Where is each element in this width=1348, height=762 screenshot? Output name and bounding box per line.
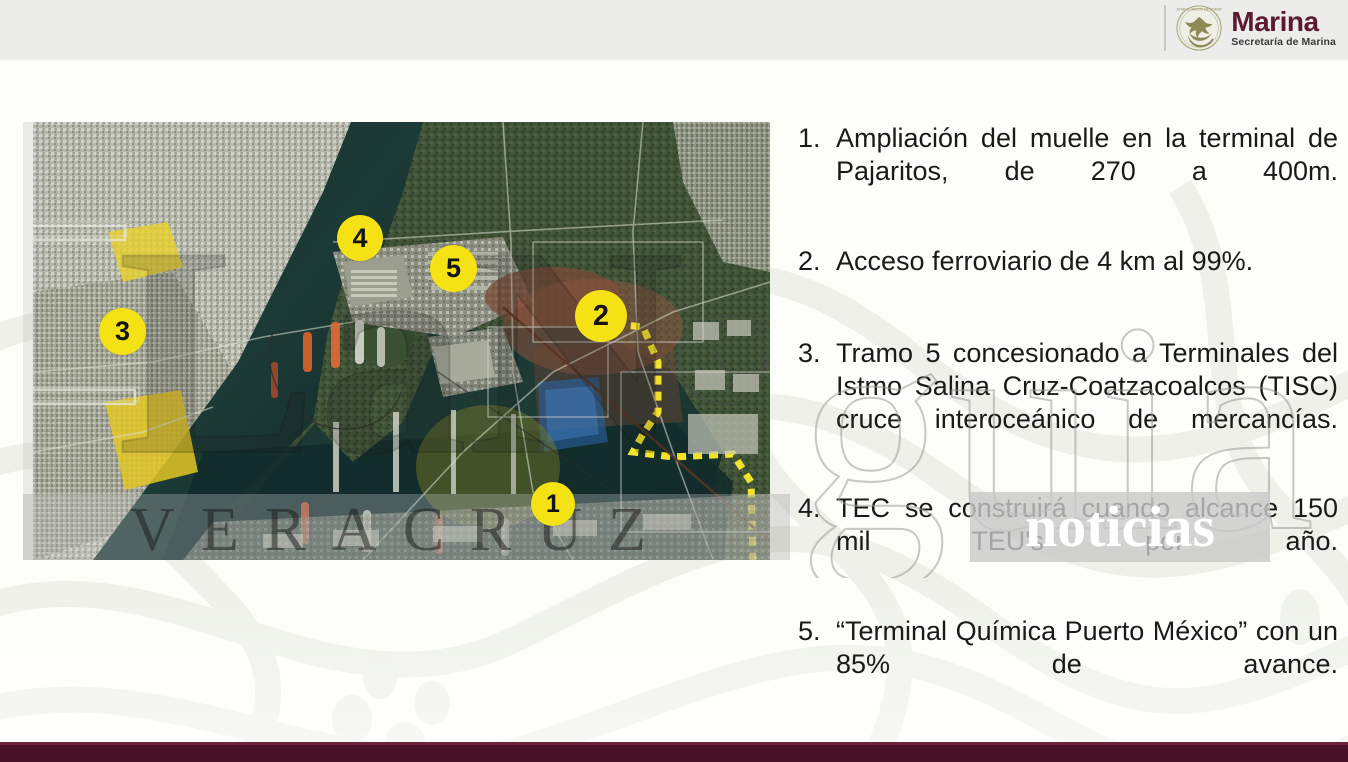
logo-divider	[1164, 5, 1166, 51]
list-item-number: 5.	[798, 615, 836, 714]
slide-root: Puerto de Coatzacoalcos ESTADOS UNIDOS M…	[0, 0, 1348, 762]
map-marker-5-label: 5	[446, 253, 461, 284]
list-item: 1. Ampliación del muelle en la terminal …	[798, 122, 1338, 221]
map-marker-1[interactable]: 1	[531, 482, 575, 526]
list-item: 5. “Terminal Química Puerto México” con …	[798, 615, 1338, 714]
list-item-number: 1.	[798, 122, 836, 221]
header-bar	[0, 0, 1348, 57]
list-item-number: 3.	[798, 337, 836, 469]
bullet-list: 1. Ampliación del muelle en la terminal …	[798, 122, 1338, 738]
list-item: 4. TEC se construirá cuando alcance 150 …	[798, 492, 1338, 591]
list-item-number: 2.	[798, 245, 836, 311]
list-item-text: Acceso ferroviario de 4 km al 99%.	[836, 245, 1338, 311]
list-item-text: Tramo 5 concesionado a Terminales del Is…	[836, 337, 1338, 469]
map-marker-5[interactable]: 5	[430, 245, 477, 292]
map-marker-3[interactable]: 3	[99, 308, 146, 355]
list-item: 3. Tramo 5 concesionado a Terminales del…	[798, 337, 1338, 469]
map-marker-2-label: 2	[593, 300, 609, 333]
logo-subtitle: Secretaría de Marina	[1231, 37, 1336, 48]
marina-logo: ESTADOS UNIDOS MEXICANOS Marina Secretar…	[1164, 2, 1336, 54]
map-marker-3-label: 3	[115, 316, 130, 347]
header-shadow	[0, 57, 1348, 62]
logo-name: Marina	[1231, 9, 1336, 36]
list-item-text: Ampliación del muelle en la terminal de …	[836, 122, 1338, 221]
map-marker-1-label: 1	[546, 490, 560, 519]
footer-bar	[0, 745, 1348, 762]
list-item: 2. Acceso ferroviario de 4 km al 99%.	[798, 245, 1338, 311]
list-item-text: “Terminal Química Puerto México” con un …	[836, 615, 1338, 714]
list-item-text: TEC se construirá cuando alcance 150 mil…	[836, 492, 1338, 591]
satellite-map[interactable]: LaN VERACRUZ 1 2 3 4 5	[33, 122, 770, 560]
map-marker-2[interactable]: 2	[575, 290, 627, 342]
svg-text:ESTADOS UNIDOS MEXICANOS: ESTADOS UNIDOS MEXICANOS	[1176, 8, 1222, 12]
list-item-number: 4.	[798, 492, 836, 591]
map-marker-4-label: 4	[352, 223, 367, 254]
map-marker-4[interactable]: 4	[337, 215, 383, 261]
mexican-eagle-seal-icon: ESTADOS UNIDOS MEXICANOS	[1176, 5, 1222, 51]
